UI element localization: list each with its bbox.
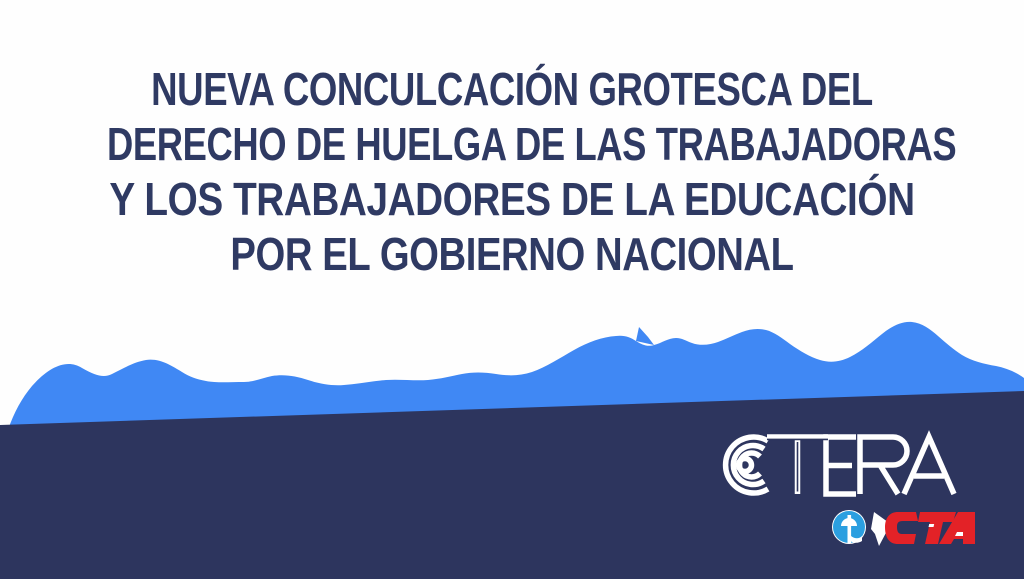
ctera-letter-a [904,437,954,494]
cta-logo [830,506,975,550]
cta-letters [885,512,975,544]
ctera-e-badge-icon [832,510,866,544]
ctera-letter-r [860,437,907,494]
logo-lockup [700,428,990,558]
title-line-2: DERECHO DE HUELGA DE LAS TRABAJADORAS [107,117,917,172]
title-line-1: NUEVA CONCULCACIÓN GROTESCA DEL [105,62,919,117]
ctera-letter-e [826,437,856,494]
page-title: NUEVA CONCULCACIÓN GROTESCA DEL DERECHO … [61,62,962,282]
poster-canvas: NUEVA CONCULCACIÓN GROTESCA DEL DERECHO … [0,0,1024,579]
title-line-4: POR EL GOBIERNO NACIONAL [86,227,938,282]
title-line-3: Y LOS TRABAJADORES DE LA EDUCACIÓN [81,172,943,227]
ctera-logo [708,428,973,500]
